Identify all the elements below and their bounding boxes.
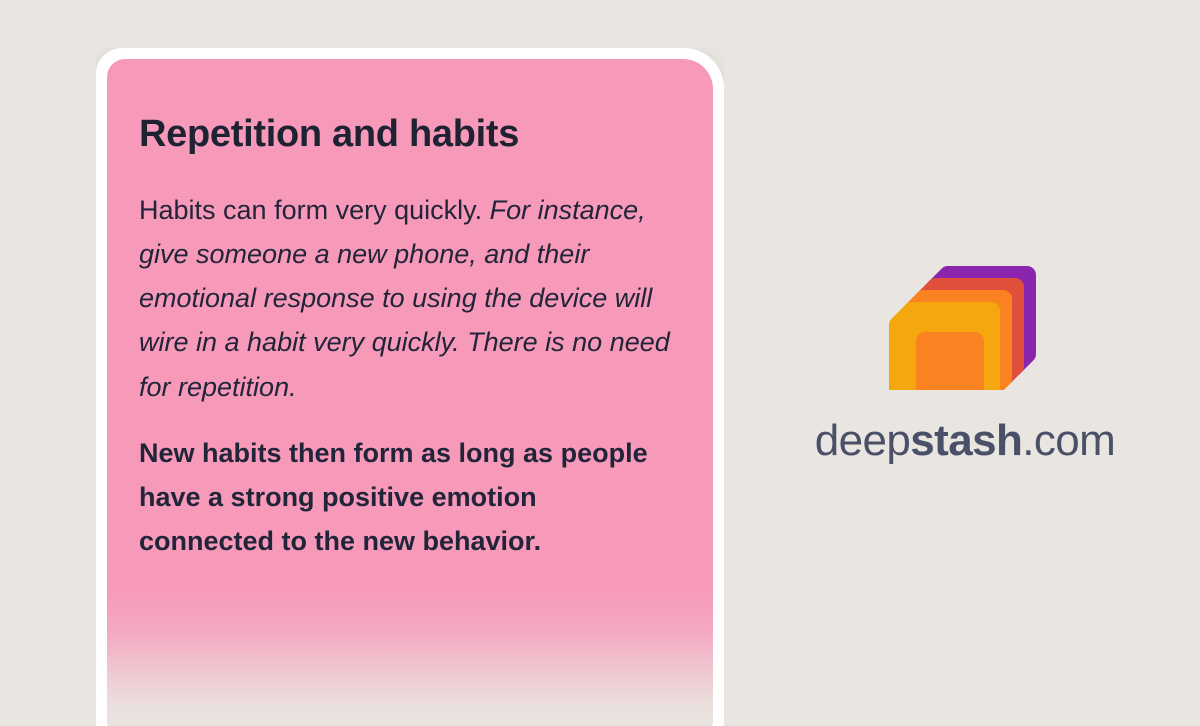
card-content: Repetition and habits Habits can form ve… [107,59,713,564]
card-title: Repetition and habits [139,113,679,156]
wordmark-part-com: .com [1022,416,1115,465]
branding-block: deepstash.com [760,250,1170,466]
stash-card[interactable]: Repetition and habits Habits can form ve… [96,48,724,726]
deepstash-wordmark: deepstash.com [760,416,1170,466]
wordmark-part-stash: stash [910,416,1022,465]
card-paragraph-1: Habits can form very quickly. For instan… [139,188,679,409]
deepstash-cube-logo [885,250,1045,390]
paragraph-lead-text: Habits can form very quickly. [139,195,490,225]
card-fade-overlay [107,587,713,726]
paragraph-emphasis-text: For instance, give someone a new phone, … [139,195,670,402]
wordmark-part-deep: deep [815,416,910,465]
card-paragraph-2: New habits then form as long as people h… [139,431,679,564]
card-surface: Repetition and habits Habits can form ve… [107,59,713,726]
